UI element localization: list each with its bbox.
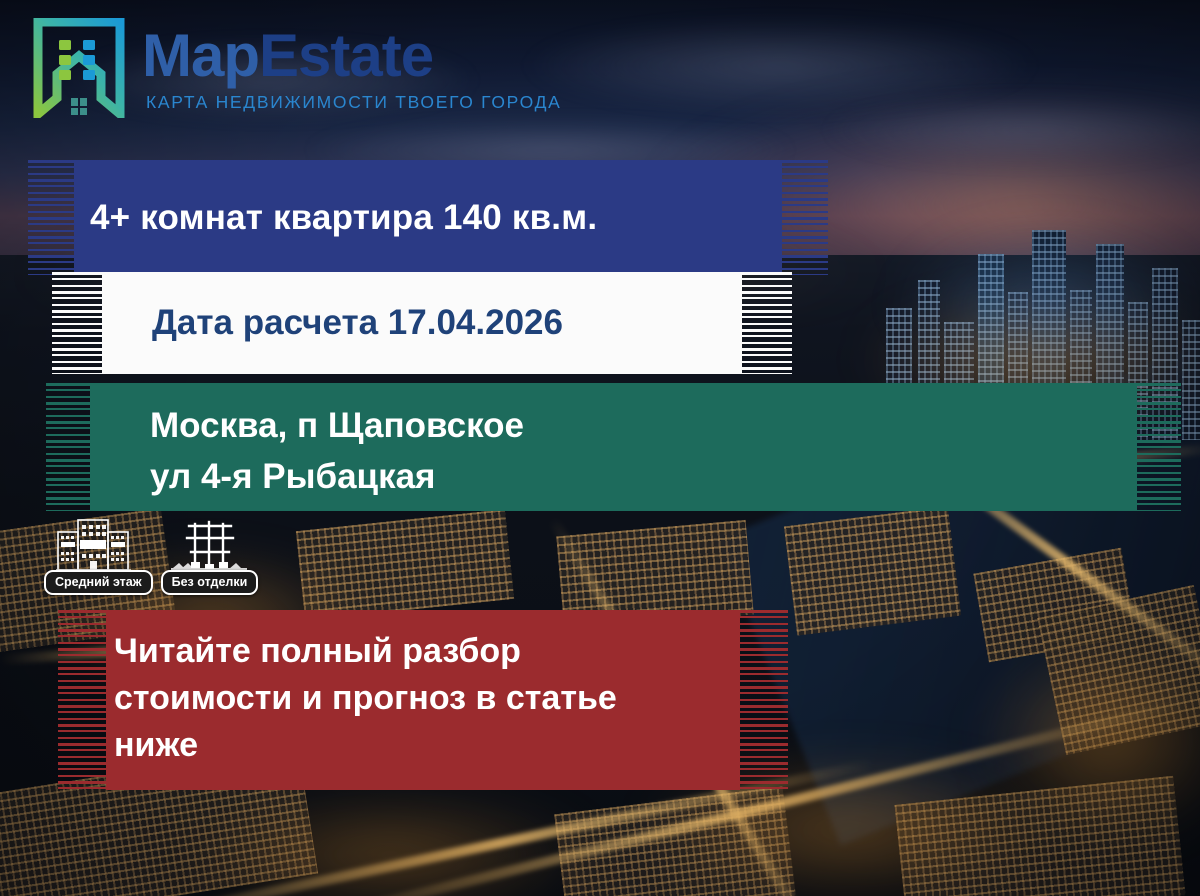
building-middle-floor-icon xyxy=(55,512,141,574)
feature-badges: Средний этаж xyxy=(44,512,258,595)
address-banner: Москва, п Щаповское ул 4-я Рыбацкая xyxy=(46,383,1181,511)
date-text: Дата расчета 17.04.2026 xyxy=(152,303,563,342)
tower-light-haze xyxy=(900,230,1200,380)
brand-name-part1: Map xyxy=(142,22,259,89)
headline-banner: 4+ комнат квартира 140 кв.м. xyxy=(28,160,828,275)
brand-wordmark: MapEstate xyxy=(142,26,562,86)
cta-banner: Читайте полный разбор стоимости и прогно… xyxy=(58,610,788,790)
brand-tagline: КАРТА НЕДВИЖИМОСТИ ТВОЕГО ГОРОДА xyxy=(146,92,562,113)
feature-no-finishing[interactable]: Без отделки xyxy=(161,512,259,595)
cta-line-2: стоимости и прогноз в статье xyxy=(114,675,788,722)
feature-label-no-finishing: Без отделки xyxy=(161,570,259,595)
unfinished-construction-icon xyxy=(169,512,249,574)
city-block xyxy=(784,506,961,635)
brand-logo[interactable]: MapEstate КАРТА НЕДВИЖИМОСТИ ТВОЕГО ГОРО… xyxy=(32,18,562,118)
address-line-2: ул 4-я Рыбацкая xyxy=(150,452,1181,503)
address-line-1: Москва, п Щаповское xyxy=(150,401,1181,452)
bookmark-building-icon xyxy=(32,18,126,118)
headline-text: 4+ комнат квартира 140 кв.м. xyxy=(90,198,597,237)
cta-line-3: ниже xyxy=(114,722,788,769)
feature-label-middle-floor: Средний этаж xyxy=(44,570,153,595)
date-banner: Дата расчета 17.04.2026 xyxy=(52,272,792,374)
feature-middle-floor[interactable]: Средний этаж xyxy=(44,512,153,595)
brand-name-part2: Estate xyxy=(259,22,433,89)
cta-line-1: Читайте полный разбор xyxy=(114,628,788,675)
